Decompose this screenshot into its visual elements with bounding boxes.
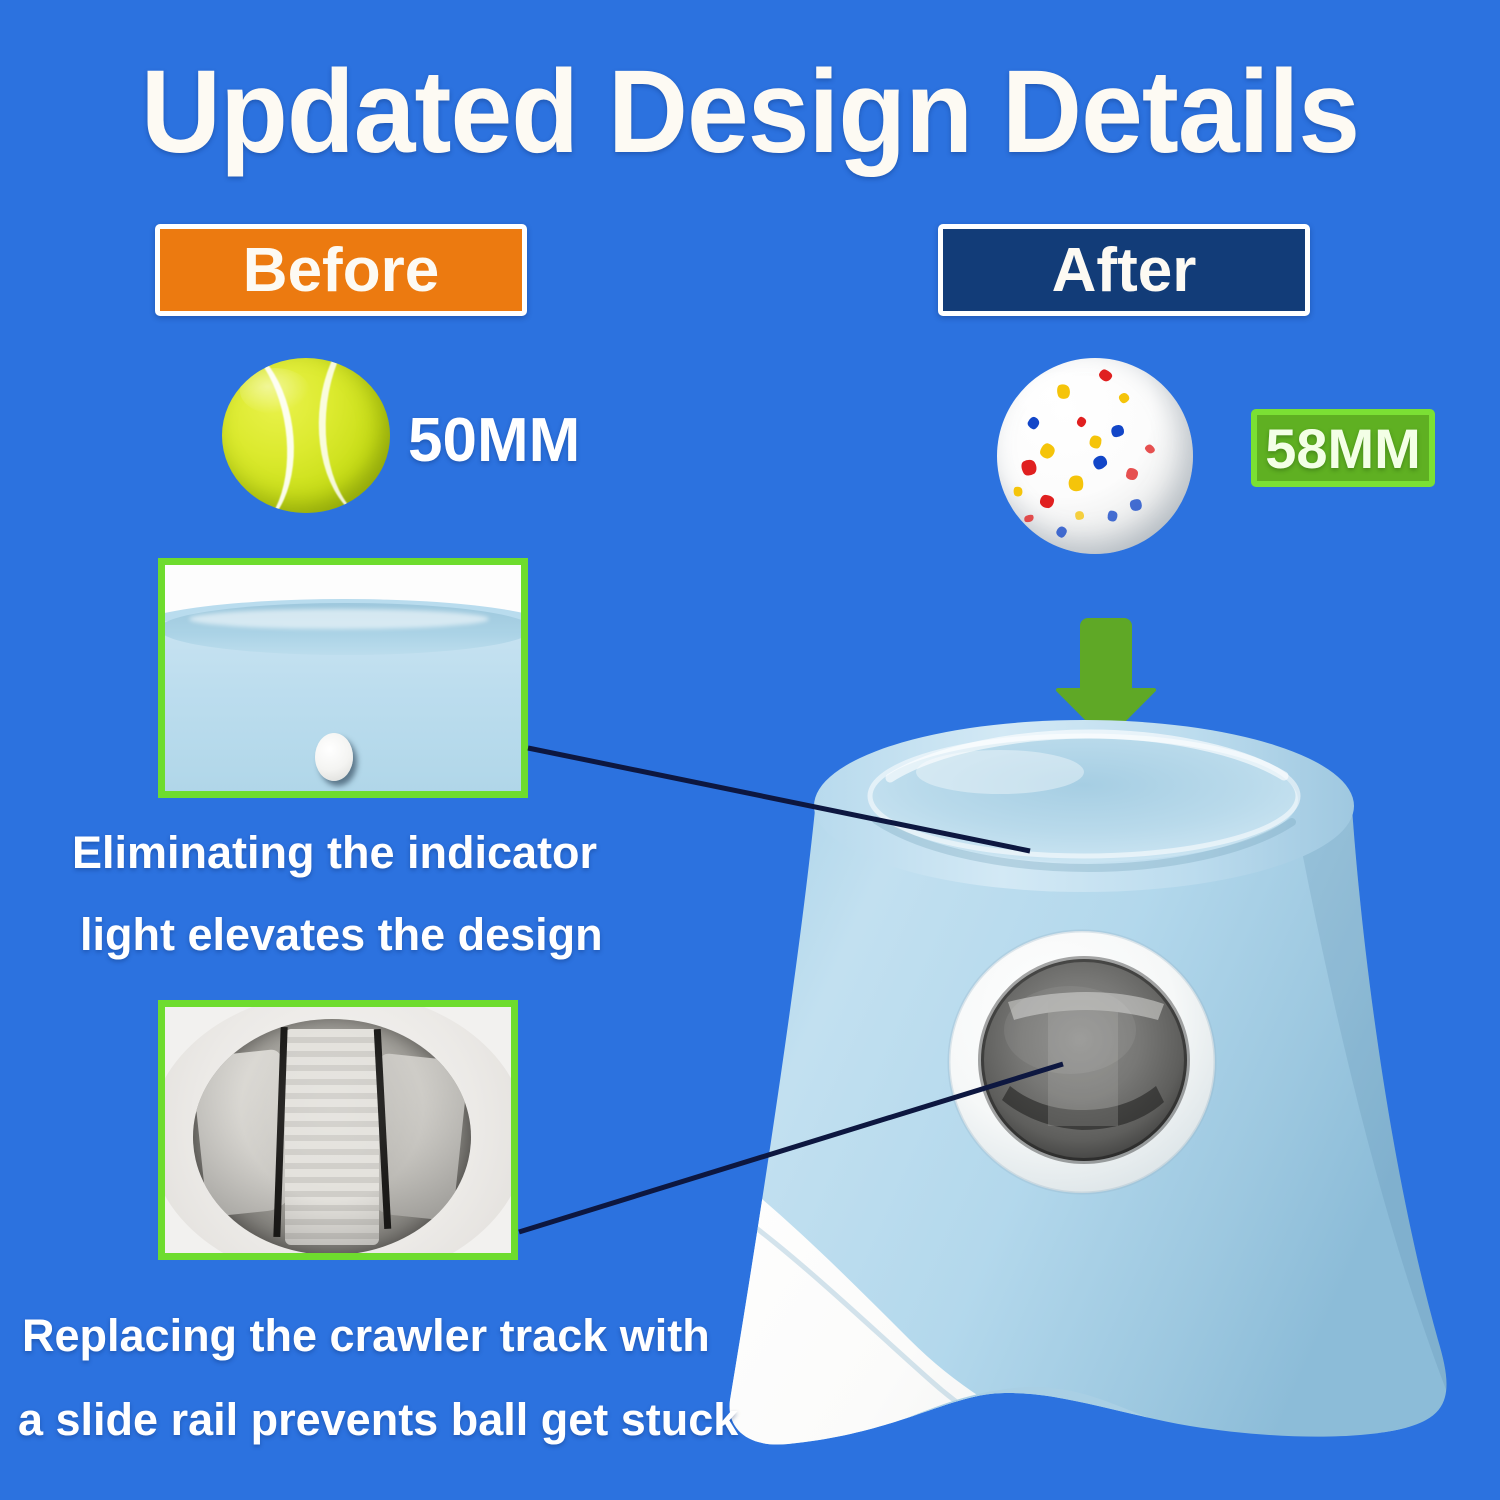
caption-indicator-line1: Eliminating the indicator [72,830,597,875]
tennis-ball-highlight [240,368,310,414]
foam-ball-icon [997,358,1193,554]
slide-rail-photo [165,1007,511,1253]
infographic-canvas: Updated Design Details Before After 50MM… [0,0,1500,1500]
confetti-speck [1097,368,1113,383]
inset-indicator-light [158,558,528,798]
confetti-speck [1074,509,1086,521]
confetti-speck [1128,497,1144,513]
confetti-speck [1018,457,1039,478]
confetti-speck [1107,510,1118,522]
after-ball-size-label: 58MM [1251,409,1435,487]
page-title: Updated Design Details [45,52,1455,172]
before-badge: Before [155,224,527,316]
before-ball-image [222,358,394,518]
confetti-speck [1055,525,1068,539]
confetti-speck [1108,422,1125,439]
confetti-speck [1012,486,1023,498]
confetti-speck [1040,495,1055,509]
indicator-light-icon [315,733,353,781]
indicator-light-photo [165,565,521,791]
confetti-speck [1066,473,1085,493]
port-shading [193,1019,471,1255]
caption-rail-line2: a slide rail prevents ball get stuck [18,1397,738,1442]
caption-rail-line1: Replacing the crawler track with [22,1313,710,1358]
confetti-speck [1039,442,1057,460]
rim-highlight [189,609,489,629]
confetti-speck [1023,513,1035,523]
caption-indicator-line2: light elevates the design [80,912,603,957]
port-interior [193,1019,471,1255]
before-ball-size-label: 50MM [408,405,580,476]
confetti-speck [1126,468,1138,480]
product-image-ball-launcher [690,700,1480,1500]
confetti-speck [1116,391,1130,405]
confetti-speck [1089,436,1101,449]
inset-slide-rail [158,1000,518,1260]
tennis-ball-icon [222,358,390,513]
confetti-speck [1091,453,1110,472]
after-ball-image [997,358,1193,554]
confetti-speck [1144,443,1157,455]
after-badge: After [938,224,1310,316]
